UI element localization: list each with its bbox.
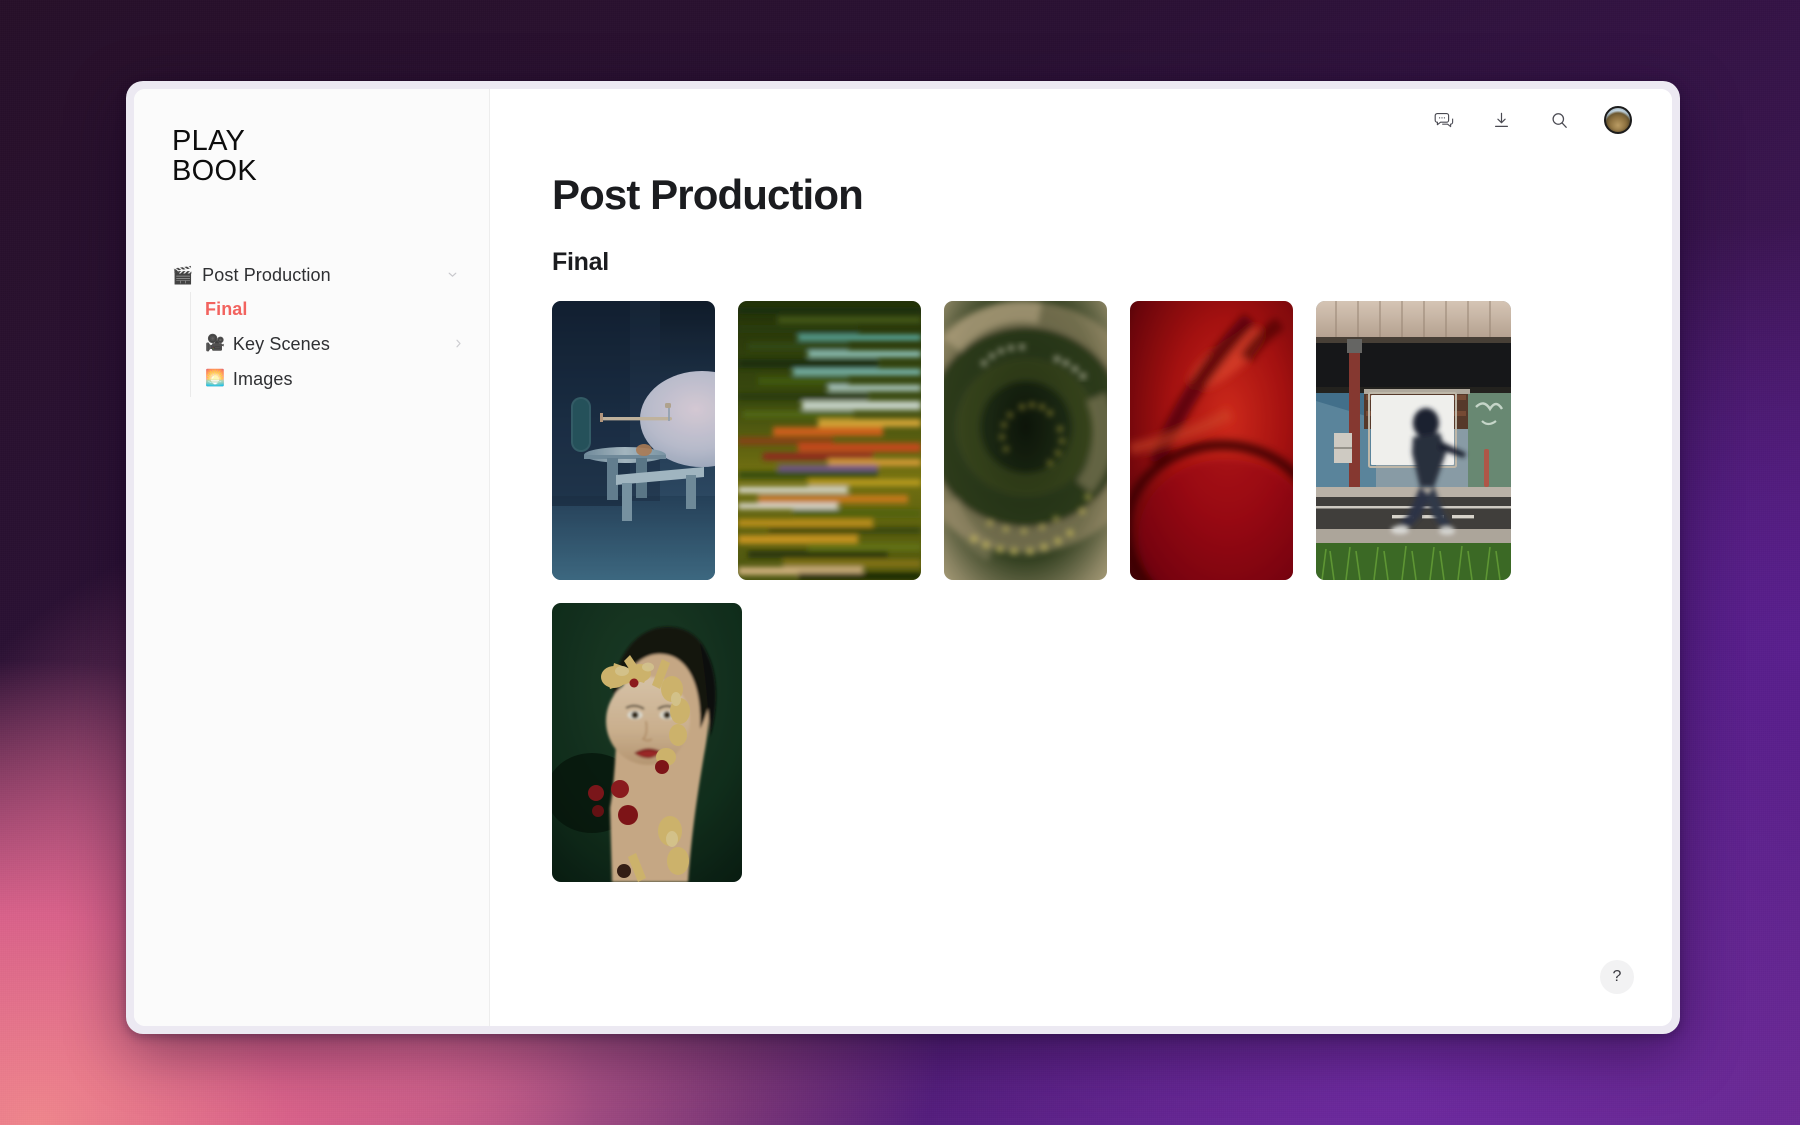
thumb-blue-interior <box>552 301 715 580</box>
film-projector-icon: 🎥 <box>205 336 225 352</box>
page-title: Post Production <box>552 171 863 219</box>
section-title: Final <box>552 248 609 277</box>
picture-icon: 🌅 <box>205 371 225 387</box>
avatar[interactable] <box>1604 106 1632 134</box>
download-icon[interactable] <box>1488 107 1514 133</box>
sidebar-item-label: Post Production <box>202 265 331 286</box>
sidebar-subnav: Final 🎥 Key Scenes � <box>190 292 489 397</box>
thumb-street-billboard <box>1316 301 1511 580</box>
sidebar-item-post-production[interactable]: 🎬 Post Production <box>134 259 489 292</box>
image-gallery <box>552 301 1672 882</box>
sidebar-item-label: Key Scenes <box>233 334 330 355</box>
top-toolbar <box>1430 89 1672 151</box>
comments-icon[interactable] <box>1430 107 1456 133</box>
chevron-right-icon[interactable] <box>452 337 465 352</box>
logo-line-1: PLAY <box>172 127 270 157</box>
gallery-thumbnail[interactable] <box>944 301 1107 580</box>
help-glyph: ? <box>1613 968 1622 986</box>
logo-line-2: BOOK <box>172 157 270 187</box>
search-icon[interactable] <box>1546 107 1572 133</box>
sidebar-item-final[interactable]: Final <box>205 292 489 327</box>
thumb-motion-blur-foliage <box>738 301 921 580</box>
gallery-thumbnail[interactable] <box>552 301 715 580</box>
sidebar-item-label: Final <box>205 299 248 320</box>
thumb-red-abstract <box>1130 301 1293 580</box>
gallery-thumbnail[interactable] <box>738 301 921 580</box>
app-window-inner: PLAY BOOK 🎬 Post Production <box>134 89 1672 1026</box>
gallery-thumbnail[interactable] <box>552 603 742 882</box>
main-content: Post Production Final <box>490 89 1672 1026</box>
app-window: PLAY BOOK 🎬 Post Production <box>126 81 1680 1034</box>
help-button[interactable]: ? <box>1600 960 1634 994</box>
sidebar-nav: 🎬 Post Production Final <box>134 259 489 397</box>
sidebar: PLAY BOOK 🎬 Post Production <box>134 89 490 1026</box>
gallery-thumbnail[interactable] <box>1130 301 1293 580</box>
thumb-spin-blur-lights <box>944 301 1107 580</box>
thumb-portrait-flowers <box>552 603 742 882</box>
gallery-thumbnail[interactable] <box>1316 301 1511 580</box>
desktop-backdrop: PLAY BOOK 🎬 Post Production <box>0 0 1800 1125</box>
clapperboard-icon: 🎬 <box>172 267 193 284</box>
chevron-down-icon[interactable] <box>446 268 459 283</box>
sidebar-item-images[interactable]: 🌅 Images <box>205 362 489 397</box>
playbook-logo[interactable]: PLAY BOOK <box>172 127 270 187</box>
sidebar-item-key-scenes[interactable]: 🎥 Key Scenes <box>205 327 489 362</box>
sidebar-item-label: Images <box>233 369 293 390</box>
